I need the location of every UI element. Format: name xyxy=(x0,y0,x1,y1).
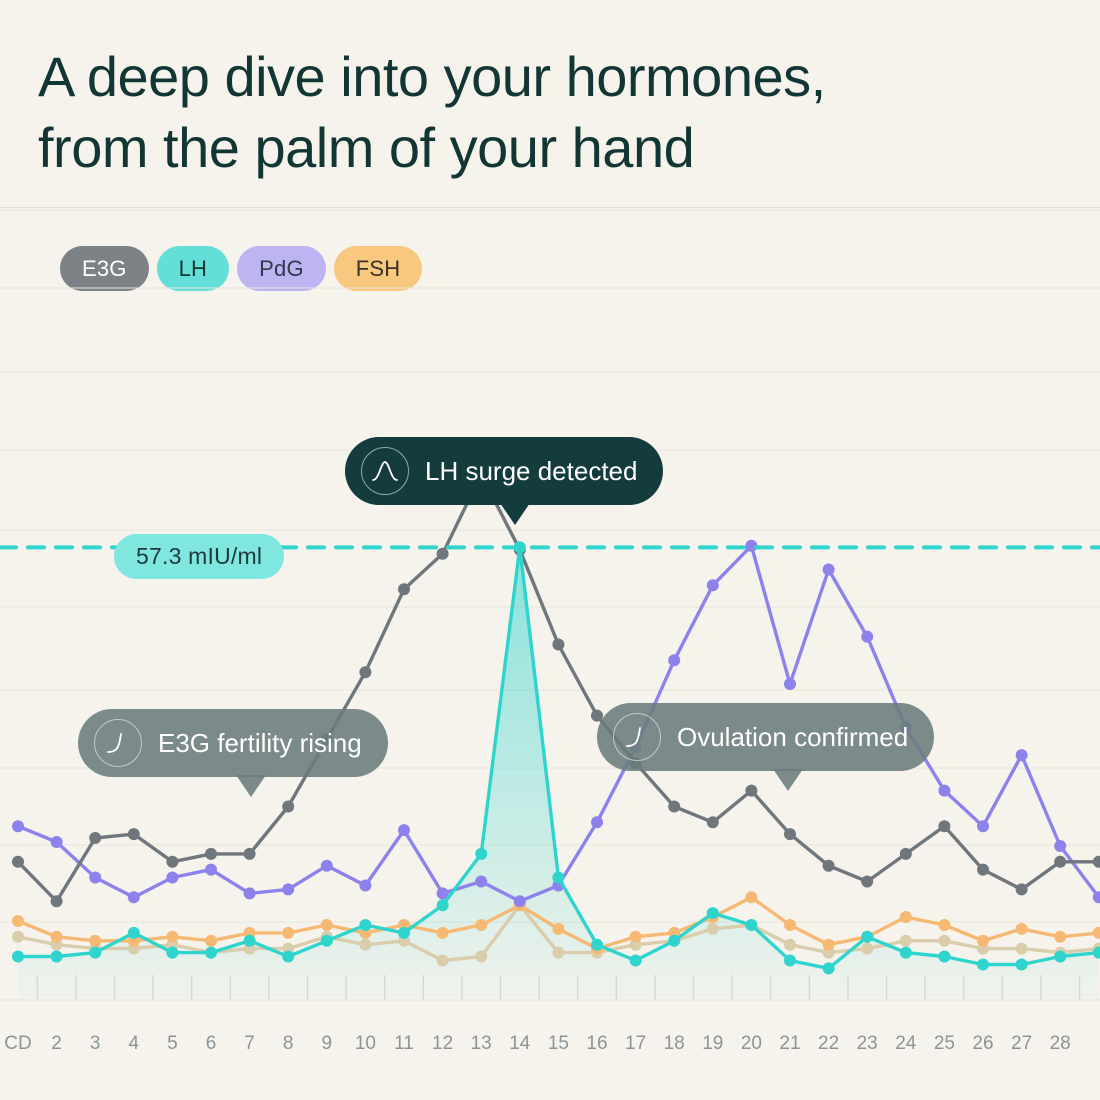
data-point xyxy=(51,895,63,907)
data-point xyxy=(1054,951,1066,963)
annotation-ovulation-confirmed[interactable]: Ovulation confirmed xyxy=(597,703,934,771)
annotation-e3g-rising-label: E3G fertility rising xyxy=(158,728,362,759)
data-point xyxy=(359,939,371,951)
data-point xyxy=(784,955,796,967)
x-axis-label: 28 xyxy=(1050,1033,1071,1055)
data-point xyxy=(977,864,989,876)
data-point xyxy=(51,931,63,943)
x-axis-label: 17 xyxy=(625,1033,646,1055)
x-axis-label: 9 xyxy=(322,1033,333,1055)
x-axis-label: 26 xyxy=(972,1033,993,1055)
data-point xyxy=(784,678,796,690)
x-axis-label: 10 xyxy=(355,1033,376,1055)
data-point xyxy=(437,899,449,911)
data-point xyxy=(861,876,873,888)
data-point xyxy=(745,919,757,931)
data-point xyxy=(359,880,371,892)
data-point xyxy=(475,876,487,888)
data-point xyxy=(282,951,294,963)
x-axis-label: 3 xyxy=(90,1033,101,1055)
data-point xyxy=(89,947,101,959)
data-point xyxy=(359,666,371,678)
data-point xyxy=(166,872,178,884)
threshold-value-label: 57.3 mIU/ml xyxy=(136,543,262,570)
x-axis-label: 27 xyxy=(1011,1033,1032,1055)
data-point xyxy=(784,828,796,840)
data-point xyxy=(398,927,410,939)
data-point xyxy=(591,816,603,828)
x-axis-label: CD xyxy=(4,1033,31,1055)
data-point xyxy=(938,919,950,931)
x-axis-label: 24 xyxy=(895,1033,916,1055)
data-point xyxy=(514,895,526,907)
x-axis-label: 2 xyxy=(51,1033,62,1055)
data-point xyxy=(282,927,294,939)
data-point xyxy=(321,919,333,931)
data-point xyxy=(977,959,989,971)
x-axis-label: 7 xyxy=(244,1033,255,1055)
data-point xyxy=(784,939,796,951)
data-point xyxy=(475,848,487,860)
data-point xyxy=(668,935,680,947)
peak-curve-icon xyxy=(361,447,409,495)
rising-curve-icon xyxy=(94,719,142,767)
data-point xyxy=(244,935,256,947)
data-point xyxy=(51,836,63,848)
data-point xyxy=(823,962,835,974)
data-point xyxy=(1016,883,1028,895)
data-point xyxy=(1093,927,1100,939)
data-point xyxy=(12,951,24,963)
data-point xyxy=(745,891,757,903)
data-point xyxy=(128,891,140,903)
data-point xyxy=(244,887,256,899)
x-axis-label: 23 xyxy=(857,1033,878,1055)
data-point xyxy=(475,951,487,963)
data-point xyxy=(938,785,950,797)
x-axis-label: 18 xyxy=(664,1033,685,1055)
data-point xyxy=(784,919,796,931)
data-point xyxy=(630,931,642,943)
data-point xyxy=(861,943,873,955)
data-point xyxy=(1016,943,1028,955)
annotation-e3g-rising[interactable]: E3G fertility rising xyxy=(78,709,388,777)
data-point xyxy=(707,816,719,828)
x-axis-label: 19 xyxy=(702,1033,723,1055)
x-axis-label: 20 xyxy=(741,1033,762,1055)
data-point xyxy=(398,583,410,595)
data-point xyxy=(437,927,449,939)
data-point xyxy=(552,947,564,959)
data-point xyxy=(205,935,217,947)
data-point xyxy=(591,939,603,951)
data-point xyxy=(823,564,835,576)
data-point xyxy=(1093,856,1100,868)
data-point xyxy=(823,939,835,951)
annotation-tail xyxy=(500,503,530,525)
data-point xyxy=(900,935,912,947)
x-axis-label: 5 xyxy=(167,1033,178,1055)
x-axis-label: 21 xyxy=(779,1033,800,1055)
rising-curve-icon xyxy=(613,713,661,761)
annotation-ovulation-label: Ovulation confirmed xyxy=(677,722,908,753)
annotation-lh-surge[interactable]: LH surge detected xyxy=(345,437,663,505)
data-point xyxy=(1054,931,1066,943)
x-axis-label: 13 xyxy=(471,1033,492,1055)
data-point xyxy=(437,548,449,560)
data-point xyxy=(745,785,757,797)
data-point xyxy=(437,955,449,967)
data-point xyxy=(707,907,719,919)
data-point xyxy=(1054,840,1066,852)
data-point xyxy=(1016,749,1028,761)
data-point xyxy=(552,872,564,884)
data-point xyxy=(977,935,989,947)
data-point xyxy=(12,820,24,832)
x-axis-labels: CD23456789101112131415161718192021222324… xyxy=(0,1033,1100,1063)
x-axis-label: 25 xyxy=(934,1033,955,1055)
x-axis-label: 6 xyxy=(206,1033,217,1055)
data-point xyxy=(205,864,217,876)
annotation-tail xyxy=(236,775,266,797)
data-point xyxy=(205,848,217,860)
data-point xyxy=(89,872,101,884)
data-point xyxy=(166,947,178,959)
data-point xyxy=(12,856,24,868)
data-point xyxy=(1054,856,1066,868)
data-point xyxy=(128,828,140,840)
data-point xyxy=(1016,959,1028,971)
data-point xyxy=(977,820,989,832)
x-axis-label: 15 xyxy=(548,1033,569,1055)
threshold-value-badge: 57.3 mIU/ml xyxy=(114,534,284,579)
data-point xyxy=(12,931,24,943)
data-point xyxy=(89,935,101,947)
data-point xyxy=(398,824,410,836)
data-point xyxy=(166,856,178,868)
data-point xyxy=(321,860,333,872)
data-point xyxy=(244,848,256,860)
data-point xyxy=(282,801,294,813)
data-point xyxy=(166,931,178,943)
data-point xyxy=(630,955,642,967)
data-point xyxy=(707,579,719,591)
x-axis-label: 12 xyxy=(432,1033,453,1055)
annotation-lh-surge-label: LH surge detected xyxy=(425,456,637,487)
data-point xyxy=(707,923,719,935)
data-point xyxy=(552,639,564,651)
data-point xyxy=(861,631,873,643)
annotation-tail xyxy=(773,769,803,791)
data-point xyxy=(205,947,217,959)
x-axis-label: 4 xyxy=(129,1033,140,1055)
x-axis-label: 11 xyxy=(394,1033,414,1055)
hormone-chart-page: A deep dive into your hormones, from the… xyxy=(0,0,1100,1100)
data-point xyxy=(900,911,912,923)
data-point xyxy=(51,951,63,963)
data-point xyxy=(552,923,564,935)
data-point xyxy=(938,935,950,947)
data-point xyxy=(359,919,371,931)
data-point xyxy=(938,951,950,963)
x-axis-label: 8 xyxy=(283,1033,294,1055)
data-point xyxy=(861,931,873,943)
data-point xyxy=(668,654,680,666)
x-axis-label: 22 xyxy=(818,1033,839,1055)
data-point xyxy=(900,848,912,860)
data-point xyxy=(321,935,333,947)
x-axis-label: 16 xyxy=(586,1033,607,1055)
data-point xyxy=(938,820,950,832)
x-axis-label: 14 xyxy=(509,1033,530,1055)
data-point xyxy=(475,919,487,931)
data-point xyxy=(1016,923,1028,935)
data-point xyxy=(89,832,101,844)
data-point xyxy=(282,883,294,895)
data-point xyxy=(12,915,24,927)
data-point xyxy=(900,947,912,959)
data-point xyxy=(668,801,680,813)
data-point xyxy=(128,927,140,939)
data-point xyxy=(823,860,835,872)
